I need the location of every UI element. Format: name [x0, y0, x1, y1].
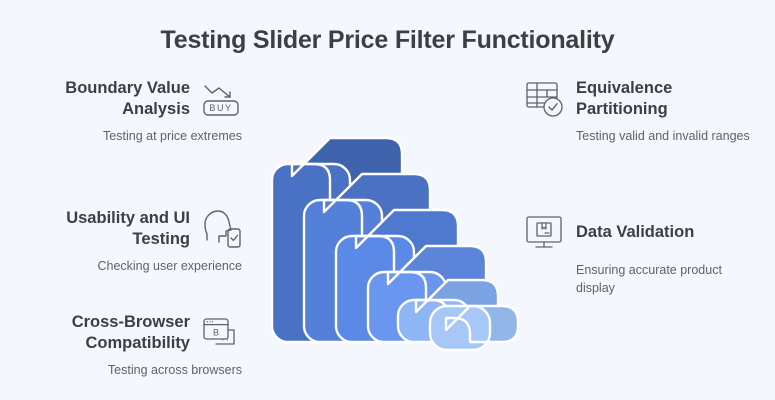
- item-header: Equivalence Partitioning: [524, 78, 760, 120]
- item-header: Boundary Value Analysis BUY: [30, 78, 242, 120]
- user-head-mobile-check-icon: [200, 208, 242, 250]
- item-description: Checking user experience: [30, 258, 242, 276]
- stack-layer-6: [430, 306, 518, 350]
- browser-windows-ab-icon: A B: [200, 312, 242, 354]
- monitor-product-box-icon: [524, 212, 566, 254]
- item-boundary-value-analysis: Boundary Value Analysis BUY Testing at p…: [30, 78, 242, 146]
- item-title: Usability and UI Testing: [30, 208, 190, 250]
- item-title: Data Validation: [576, 222, 694, 243]
- item-equivalence-partitioning: Equivalence Partitioning Testing valid a…: [524, 78, 760, 146]
- stack-svg: [268, 108, 530, 360]
- nested-3d-rounded-squares-graphic: [268, 108, 530, 360]
- item-description: Testing at price extremes: [30, 128, 242, 146]
- item-cross-browser-compatibility: Cross-Browser Compatibility A B Testing …: [14, 312, 242, 380]
- infographic-canvas: Testing Slider Price Filter Functionalit…: [0, 0, 775, 400]
- item-description: Ensuring accurate product display: [576, 262, 760, 298]
- item-description: Testing valid and invalid ranges: [576, 128, 760, 146]
- item-header: Data Validation: [524, 212, 760, 254]
- item-title: Boundary Value Analysis: [30, 78, 190, 120]
- item-usability-and-ui-testing: Usability and UI Testing Checking user e…: [30, 208, 242, 276]
- item-header: Usability and UI Testing: [30, 208, 242, 250]
- svg-text:B: B: [213, 328, 219, 338]
- item-title: Cross-Browser Compatibility: [14, 312, 190, 354]
- item-header: Cross-Browser Compatibility A B: [14, 312, 242, 354]
- svg-text:BUY: BUY: [209, 103, 232, 113]
- price-drop-buy-icon: BUY: [200, 78, 242, 120]
- item-description: Testing across browsers: [14, 362, 242, 380]
- item-title: Equivalence Partitioning: [576, 78, 760, 120]
- page-title: Testing Slider Price Filter Functionalit…: [0, 26, 775, 55]
- item-data-validation: Data Validation Ensuring accurate produc…: [524, 212, 760, 298]
- table-check-icon: [524, 78, 566, 120]
